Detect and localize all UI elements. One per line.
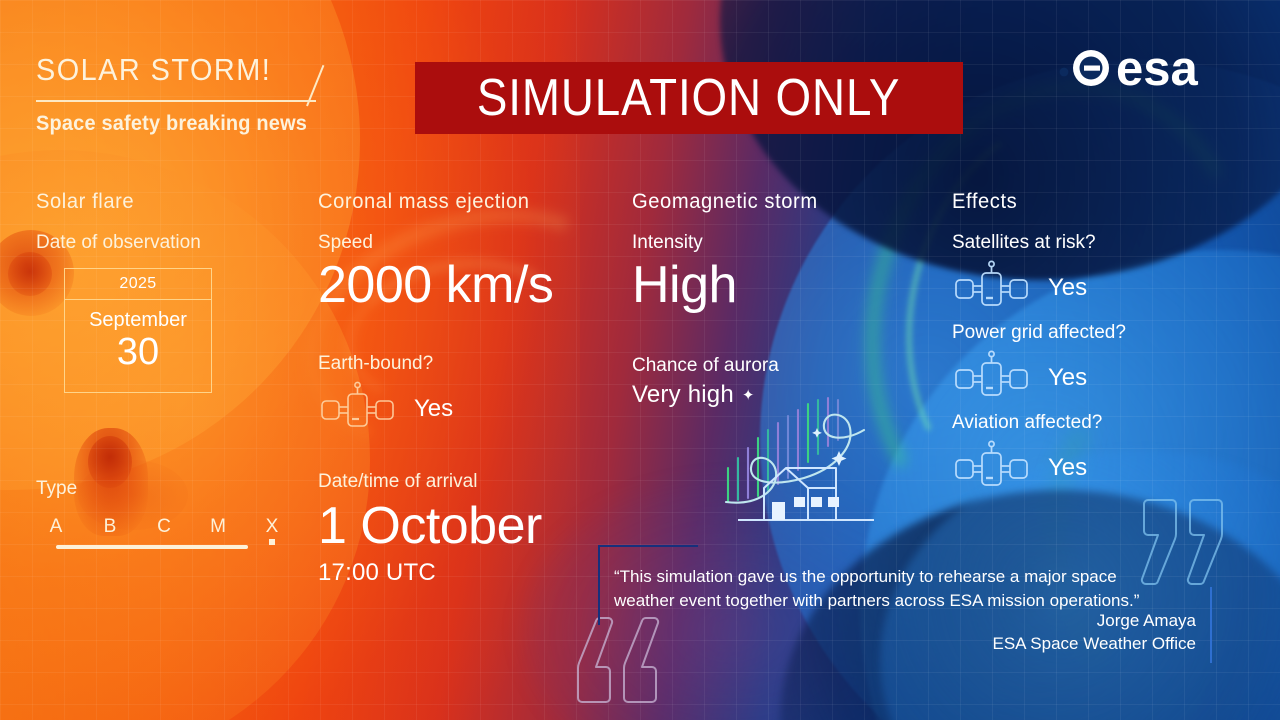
quote-organisation: ESA Space Weather Office <box>756 632 1196 655</box>
aviation-question: Aviation affected? <box>952 412 1252 434</box>
satellite-icon <box>318 381 396 437</box>
earth-bound-answer-row: Yes <box>318 381 618 437</box>
scale-label-b: B <box>90 516 130 538</box>
scale-item-x[interactable]: X <box>252 516 292 542</box>
satellites-answer-row: Yes <box>952 260 1252 316</box>
aurora-rays <box>728 398 838 502</box>
quote-attribution: Jorge Amaya ESA Space Weather Office <box>756 609 1196 656</box>
column-heading-solar-flare: Solar flare <box>36 190 301 214</box>
effect-item-aviation: Aviation affected? Yes <box>952 412 1252 496</box>
aurora-chance-label: Chance of aurora <box>632 355 932 377</box>
scale-track <box>56 545 248 549</box>
title-rule <box>36 100 316 102</box>
date-of-observation-label: Date of observation <box>36 232 312 254</box>
column-heading-cme: Coronal mass ejection <box>318 190 606 214</box>
power-grid-answer-row: Yes <box>952 350 1252 406</box>
scale-label-c: C <box>144 516 184 538</box>
calendar-year: 2025 <box>65 269 211 299</box>
column-solar-flare: Solar flare Date of observation 2025 Sep… <box>36 190 312 393</box>
quote-author: Jorge Amaya <box>756 609 1196 632</box>
scale-label-x: X <box>252 516 292 538</box>
effect-item-power-grid: Power grid affected? Yes <box>952 322 1252 406</box>
scale-label-a: A <box>36 516 76 538</box>
satellite-icon <box>952 260 1030 316</box>
scale-item-a[interactable]: A <box>36 516 76 542</box>
intensity-value: High <box>632 258 932 313</box>
earth-bound-label: Earth-bound? <box>318 353 618 375</box>
column-geomagnetic-storm: Geomagnetic storm Intensity High Chance … <box>632 190 932 409</box>
speed-label: Speed <box>318 232 618 254</box>
power-grid-question: Power grid affected? <box>952 322 1252 344</box>
scale-item-b[interactable]: B <box>90 516 130 542</box>
quote-border-left <box>598 545 600 625</box>
arrival-date: 1 October <box>318 499 618 554</box>
column-heading-effects: Effects <box>952 190 1240 214</box>
aviation-answer: Yes <box>1048 454 1087 482</box>
quote-text: “This simulation gave us the opportunity… <box>614 565 1174 613</box>
column-cme: Coronal mass ejection Speed 2000 km/s Ea… <box>318 190 618 587</box>
intensity-label: Intensity <box>632 232 932 254</box>
flare-type-label: Type <box>36 478 296 500</box>
flare-type-block: Type A B C M X <box>36 478 296 562</box>
satellite-icon <box>952 350 1030 406</box>
aviation-answer-row: Yes <box>952 440 1252 496</box>
power-grid-answer: Yes <box>1048 364 1087 392</box>
column-effects: Effects Satellites at risk? Y <box>952 190 1252 496</box>
earth-bound-value: Yes <box>414 395 453 423</box>
quote-border-right <box>1210 587 1212 663</box>
aurora-illustration <box>718 390 888 525</box>
calendar-month: September <box>65 300 211 332</box>
scale-item-m[interactable]: M <box>198 516 238 542</box>
arrival-time: 17:00 UTC <box>318 559 618 587</box>
arrival-label: Date/time of arrival <box>318 471 618 493</box>
speed-value: 2000 km/s <box>318 258 618 313</box>
observation-date-calendar: 2025 September 30 <box>64 268 212 393</box>
scale-item-c[interactable]: C <box>144 516 184 542</box>
scale-label-m: M <box>198 516 238 538</box>
effect-item-satellites: Satellites at risk? Yes <box>952 232 1252 316</box>
calendar-day: 30 <box>65 332 211 392</box>
quote-box: “This simulation gave us the opportunity… <box>598 545 1212 663</box>
satellites-question: Satellites at risk? <box>952 232 1252 254</box>
simulation-banner-label: SIMULATION ONLY <box>477 68 900 128</box>
quote-border-top <box>598 545 698 547</box>
page-title: SOLAR STORM! <box>36 52 271 88</box>
satellite-icon <box>952 440 1030 496</box>
flare-class-scale: A B C M X <box>36 516 268 562</box>
infographic-root: SOLAR STORM! Space safety breaking news … <box>0 0 1280 720</box>
esa-logo: esa <box>1044 36 1244 100</box>
simulation-banner: SIMULATION ONLY <box>415 62 963 134</box>
page-subtitle: Space safety breaking news <box>36 112 307 136</box>
esa-wordmark: esa <box>1116 42 1199 96</box>
column-heading-geomagnetic: Geomagnetic storm <box>632 190 920 214</box>
satellites-answer: Yes <box>1048 274 1087 302</box>
